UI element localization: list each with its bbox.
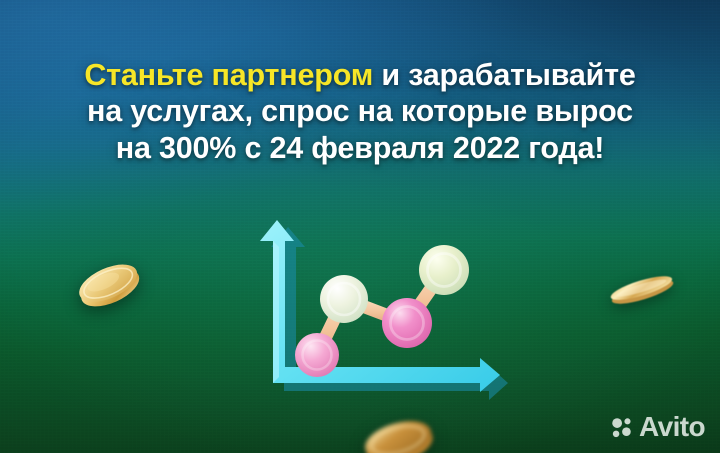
avito-partner-banner: Станьте партнером и зарабатывайте на усл… [0,0,720,453]
avito-mark-icon [611,416,634,439]
avito-logo[interactable]: Avito [611,413,705,441]
headline: Станьте партнером и зарабатывайте на усл… [0,57,720,166]
headline-line-1-rest: и зарабатывайте [373,58,636,92]
headline-line-2: на услугах, спрос на которые вырос [18,93,702,129]
coin-right [606,268,678,312]
headline-line-1: Станьте партнером и зарабатывайте [18,57,702,93]
avito-wordmark: Avito [639,413,705,441]
headline-line-3: на 300% с 24 февраля 2022 года! [18,130,702,166]
coin-left [76,256,142,314]
coin-bottom [362,417,436,453]
headline-accent-text: Станьте партнером [84,58,373,92]
growth-chart-illustration [232,207,508,412]
